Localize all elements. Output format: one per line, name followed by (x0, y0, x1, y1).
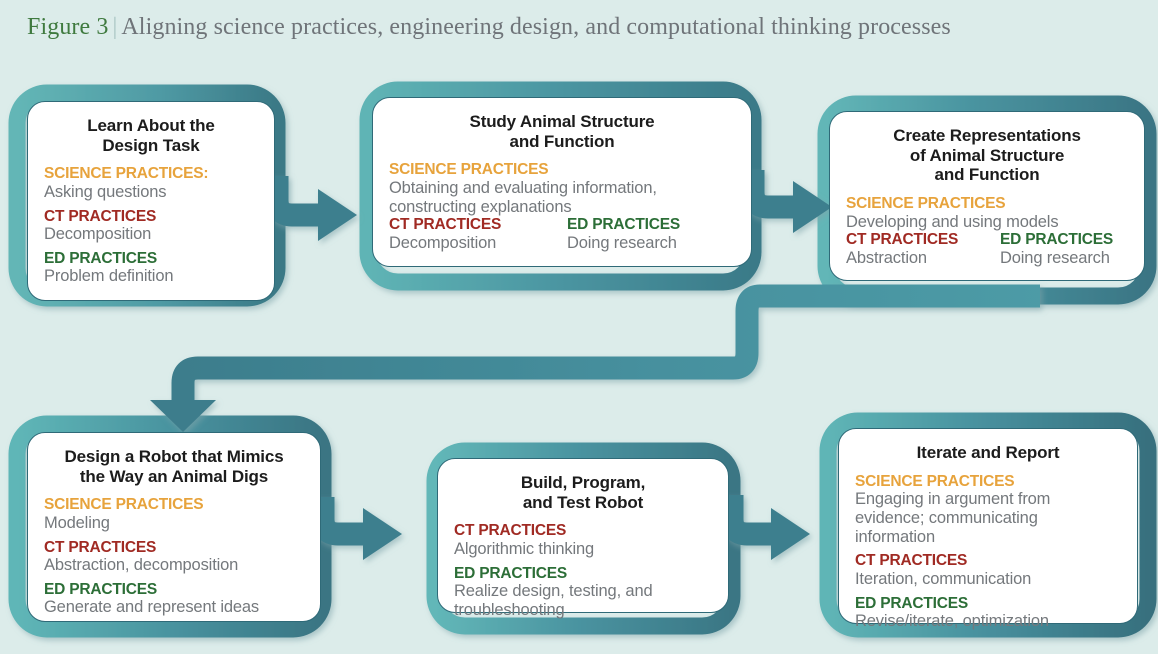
science-practices-label: SCIENCE PRACTICES (389, 161, 735, 178)
ed-practices-label: ED PRACTICES (44, 581, 304, 598)
node-build-program-test-robot[interactable]: Build, Program, and Test Robot CT PRACTI… (437, 458, 729, 613)
node-title-line2: and Test Robot (523, 493, 643, 512)
ct-practices-value: Decomposition (44, 225, 258, 244)
arrow-3-to-4 (150, 296, 1040, 432)
node-title-line1: Study Animal Structure (470, 112, 655, 131)
ed-practices-value: Revise/iterate, optimization (855, 612, 1121, 631)
ed-practices-label: ED PRACTICES (567, 216, 680, 233)
ct-practices-value: Algorithmic thinking (454, 540, 712, 559)
ct-practices-label: CT PRACTICES (389, 216, 549, 233)
ed-practices-column: ED PRACTICES Doing research (567, 216, 680, 252)
node-title-line1: Design a Robot that Mimics (64, 447, 283, 466)
ed-practices-column: ED PRACTICES Doing research (1000, 231, 1113, 267)
ct-practices-value: Abstraction (846, 249, 994, 268)
node-title-line2: of Animal Structure (910, 146, 1064, 165)
science-practices-value: Asking questions (44, 183, 258, 202)
ed-practices-label: ED PRACTICES (44, 250, 258, 267)
ct-practices-label: CT PRACTICES (44, 208, 258, 225)
node-learn-about-design-task[interactable]: Learn About the Design Task SCIENCE PRAC… (27, 101, 275, 301)
science-practices-label: SCIENCE PRACTICES (855, 473, 1121, 490)
science-practices-value: Developing and using models (846, 213, 1128, 232)
ed-practices-value: Doing research (567, 234, 680, 253)
node-title: Learn About the Design Task (44, 116, 258, 155)
node-title-line1: Build, Program, (521, 473, 645, 492)
science-practices-label: SCIENCE PRACTICES (846, 195, 1128, 212)
ed-practices-value: Doing research (1000, 249, 1113, 268)
arrow-4-to-5 (323, 497, 402, 560)
node-study-animal-structure[interactable]: Study Animal Structure and Function SCIE… (372, 97, 752, 267)
ct-practices-label: CT PRACTICES (44, 539, 304, 556)
science-practices-label: SCIENCE PRACTICES: (44, 165, 258, 182)
science-practices-label: SCIENCE PRACTICES (44, 496, 304, 513)
ct-practices-label: CT PRACTICES (846, 231, 994, 248)
node-title-line1: Create Representations (893, 126, 1081, 145)
ct-practices-value: Abstraction, decomposition (44, 556, 304, 575)
ed-practices-label: ED PRACTICES (454, 565, 712, 582)
node-title-line3: and Function (935, 165, 1040, 184)
node-title: Design a Robot that Mimics the Way an An… (44, 447, 304, 486)
node-title: Iterate and Report (855, 443, 1121, 463)
ct-practices-label: CT PRACTICES (454, 522, 712, 539)
node-create-representations[interactable]: Create Representations of Animal Structu… (829, 111, 1145, 281)
node-title: Build, Program, and Test Robot (454, 473, 712, 512)
practices-columns: CT PRACTICES Abstraction ED PRACTICES Do… (846, 231, 1128, 267)
ct-practices-value: Decomposition (389, 234, 549, 253)
science-practices-value: Obtaining and evaluating information, co… (389, 179, 735, 217)
ed-practices-value: Problem definition (44, 267, 258, 286)
node-title: Study Animal Structure and Function (389, 112, 735, 151)
ed-practices-value: Realize design, testing, and troubleshoo… (454, 582, 712, 620)
node-title: Create Representations of Animal Structu… (846, 126, 1128, 185)
ed-practices-label: ED PRACTICES (855, 595, 1121, 612)
science-practices-value: Modeling (44, 514, 304, 533)
node-title-line1: Iterate and Report (917, 443, 1060, 462)
science-practices-value: Engaging in argument from evidence; comm… (855, 490, 1121, 546)
node-title-line2: Design Task (102, 136, 199, 155)
node-title-line2: and Function (510, 132, 615, 151)
arrow-1-to-2 (277, 176, 357, 241)
figure-canvas: Figure 3|Aligning science practices, eng… (0, 0, 1158, 654)
arrow-5-to-6 (732, 495, 810, 560)
ct-practices-value: Iteration, communication (855, 570, 1121, 589)
node-title-line1: Learn About the (87, 116, 214, 135)
ct-practices-column: CT PRACTICES Decomposition (389, 216, 549, 252)
node-design-a-robot[interactable]: Design a Robot that Mimics the Way an An… (27, 432, 321, 622)
node-title-line2: the Way an Animal Digs (80, 467, 268, 486)
practices-columns: CT PRACTICES Decomposition ED PRACTICES … (389, 216, 735, 252)
ct-practices-column: CT PRACTICES Abstraction (846, 231, 994, 267)
ct-practices-label: CT PRACTICES (855, 552, 1121, 569)
node-iterate-and-report[interactable]: Iterate and Report SCIENCE PRACTICES Eng… (838, 428, 1138, 624)
ed-practices-label: ED PRACTICES (1000, 231, 1113, 248)
ed-practices-value: Generate and represent ideas (44, 598, 304, 617)
